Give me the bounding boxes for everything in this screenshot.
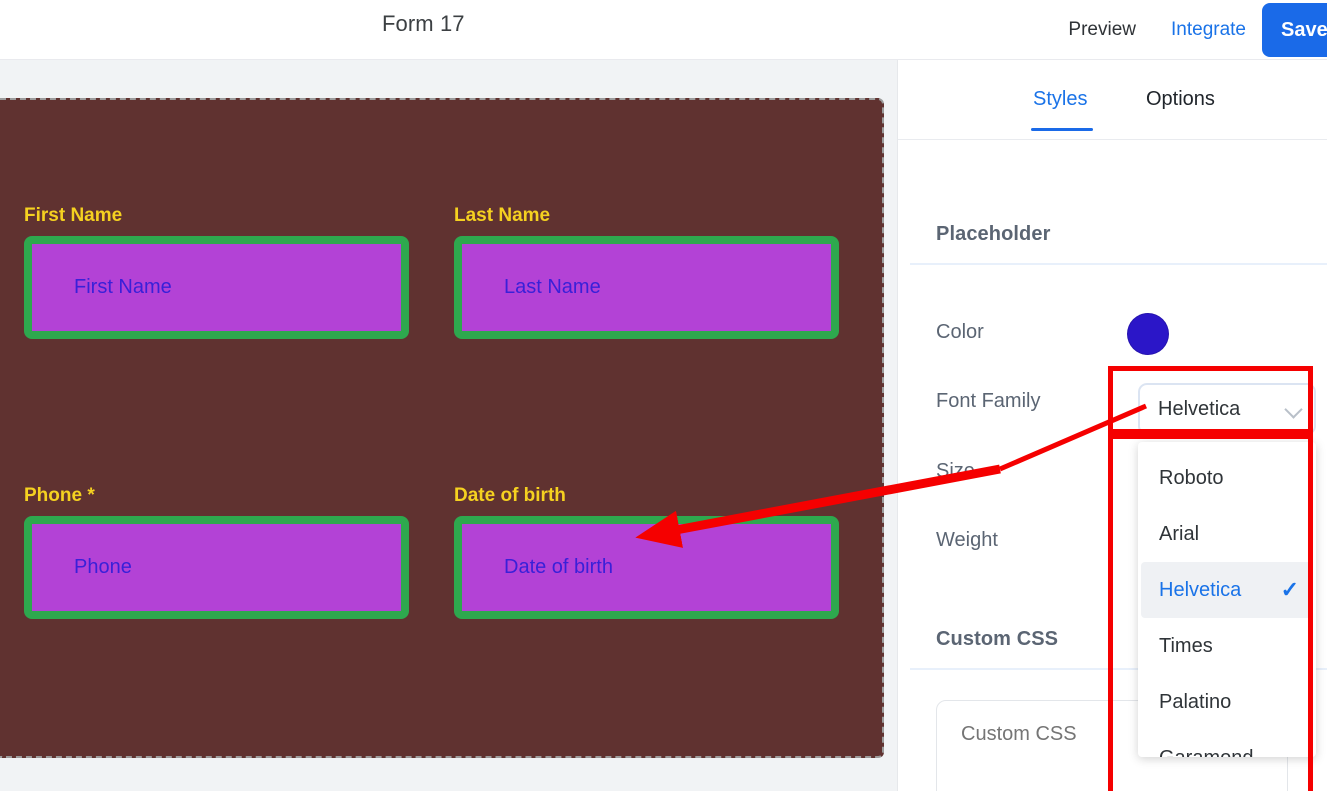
preview-button[interactable]: Preview [1049,19,1155,41]
section-heading-custom-css: Custom CSS [936,628,1058,651]
field-label-date-of-birth: Date of birth [454,485,839,507]
form-field-phone: Phone * Phone [24,485,409,619]
panel-tabs: Styles Options [898,82,1327,140]
tab-options[interactable]: Options [1146,88,1215,111]
top-bar: Form 17 Preview Integrate Save [0,0,1327,60]
input-last-name[interactable]: Last Name [454,236,839,339]
font-family-select[interactable]: Helvetica [1138,383,1316,435]
form-field-last-name: Last Name Last Name [454,205,839,339]
dropdown-option-label: Palatino [1159,691,1299,714]
check-icon: ✓ [1281,579,1299,601]
save-button[interactable]: Save [1262,3,1327,57]
placeholder-phone: Phone [74,556,132,579]
dropdown-option-label: Times [1159,635,1299,658]
field-label-last-name: Last Name [454,205,839,227]
font-family-dropdown-menu[interactable]: Roboto Arial Helvetica ✓ Times Palatino … [1138,442,1316,757]
dropdown-option-arial[interactable]: Arial [1141,506,1313,562]
integrate-button[interactable]: Integrate [1155,19,1262,41]
form-field-date-of-birth: Date of birth Date of birth [454,485,839,619]
topbar-actions: Preview Integrate Save [1049,0,1327,60]
section-heading-placeholder: Placeholder [936,223,1050,246]
dropdown-option-palatino[interactable]: Palatino [1141,674,1313,730]
font-family-selected-value: Helvetica [1158,398,1286,421]
app-root: Form 17 Preview Integrate Save First Nam… [0,0,1327,791]
dropdown-option-times[interactable]: Times [1141,618,1313,674]
section-divider-placeholder [910,263,1327,265]
dropdown-option-roboto[interactable]: Roboto [1141,450,1313,506]
placeholder-first-name: First Name [74,276,172,299]
label-color: Color [936,321,984,344]
dropdown-option-label: Helvetica [1159,579,1281,602]
label-size: Size [936,460,975,483]
tab-styles[interactable]: Styles [1033,88,1087,111]
field-label-phone: Phone * [24,485,409,507]
dropdown-option-label: Garamond [1159,747,1299,758]
form-card[interactable]: First Name First Name Last Name Last Nam… [0,98,884,758]
form-field-first-name: First Name First Name [24,205,409,339]
color-swatch[interactable] [1127,313,1169,355]
placeholder-last-name: Last Name [504,276,601,299]
placeholder-date-of-birth: Date of birth [504,556,613,579]
form-canvas: First Name First Name Last Name Last Nam… [0,60,897,791]
chevron-down-icon [1286,401,1302,417]
input-first-name[interactable]: First Name [24,236,409,339]
input-phone[interactable]: Phone [24,516,409,619]
dropdown-option-garamond[interactable]: Garamond [1141,730,1313,757]
dropdown-option-label: Roboto [1159,467,1299,490]
label-font-family: Font Family [936,390,1040,413]
styles-panel: Styles Options Placeholder Color Font Fa… [897,60,1327,791]
label-weight: Weight [936,529,998,552]
field-label-first-name: First Name [24,205,409,227]
dropdown-option-helvetica[interactable]: Helvetica ✓ [1141,562,1313,618]
dropdown-option-label: Arial [1159,523,1299,546]
page-title: Form 17 [382,11,465,37]
input-date-of-birth[interactable]: Date of birth [454,516,839,619]
